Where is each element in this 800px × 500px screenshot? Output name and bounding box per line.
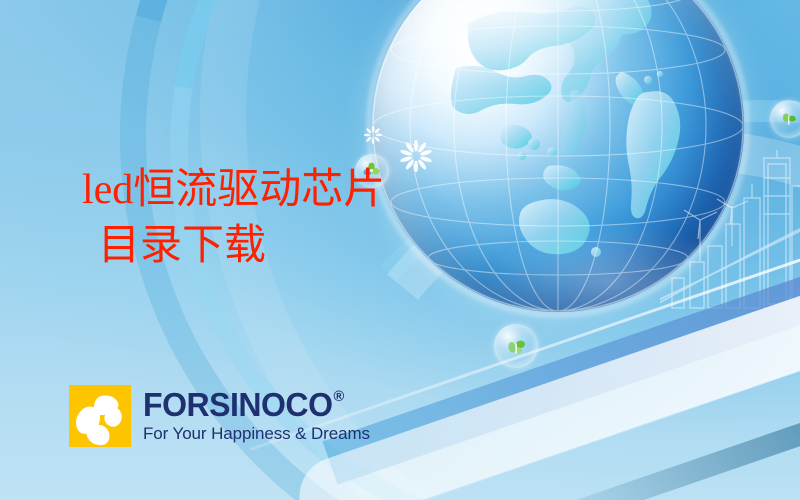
logo-wordmark-row: FORSINOCO ® [143,388,363,421]
headline-block: led恒流驱动芯片 目录下载 [82,162,512,274]
logo-text-block: FORSINOCO ® For Your Happiness & Dreams [143,388,370,444]
headline-line-1: led恒流驱动芯片 [82,162,512,218]
registered-trademark-icon: ® [333,389,343,404]
pinwheel-mark-icon [69,385,131,447]
banner-canvas: led恒流驱动芯片 目录下载 FORSINOCO ® For Your Happ… [0,0,800,500]
forsinoco-logo: FORSINOCO ® For Your Happiness & Dreams [69,385,370,447]
logo-tagline: For Your Happiness & Dreams [143,424,370,444]
forsinoco-pinwheel-mark [69,385,131,447]
headline-line-2: 目录下载 [82,218,512,274]
logo-wordmark: FORSINOCO [143,388,332,421]
